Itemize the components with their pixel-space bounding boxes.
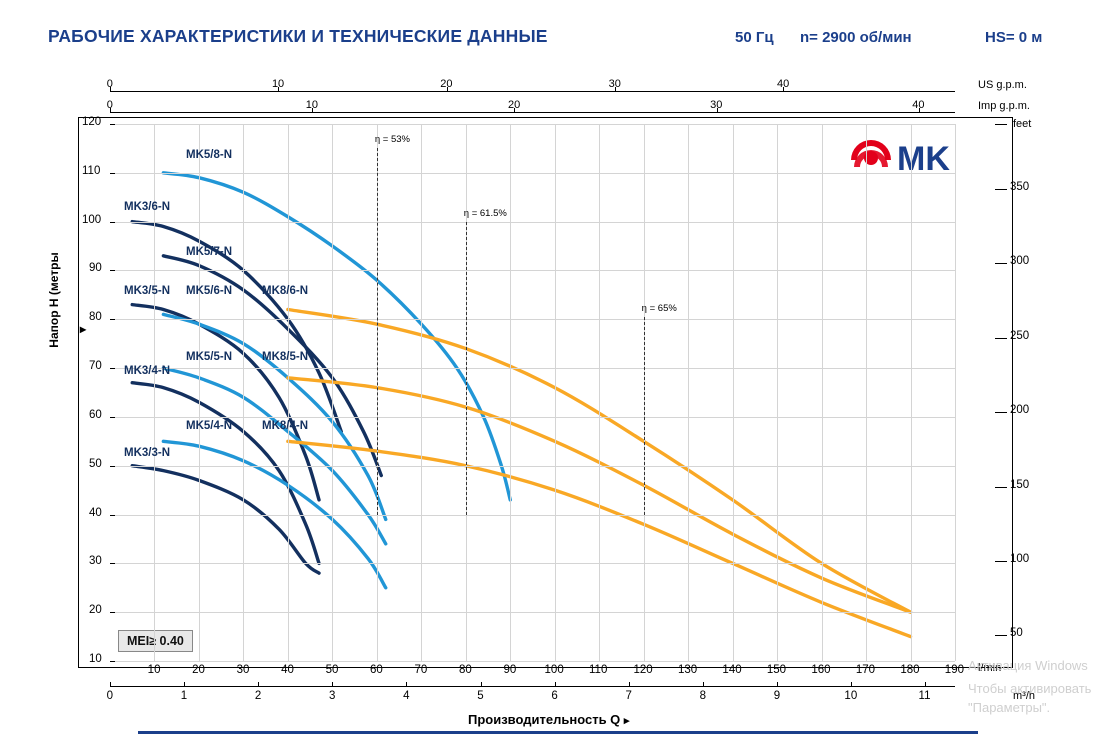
frequency-label: 50 Гц <box>735 29 774 46</box>
gridline-h <box>110 124 955 125</box>
x-tick-label-lmin: 10 <box>148 664 161 676</box>
y-right-tick-label: 50 <box>1010 627 1023 639</box>
x-tick-label-lmin: 120 <box>633 664 652 676</box>
y-tick <box>110 515 115 516</box>
gridline-h <box>110 515 955 516</box>
y-tick-label: 70 <box>89 360 102 372</box>
efficiency-marker-label: η = 65% <box>642 303 677 314</box>
axis-unit-imp-gpm: Imp g.p.m. <box>978 100 1030 112</box>
y-right-tick-label: 150 <box>1010 479 1029 491</box>
y-tick <box>110 612 115 613</box>
curve-label-mk5-6-n: MK5/6-N <box>186 285 232 297</box>
y-right-tick <box>995 338 1007 339</box>
x-tick-label-lmin: 170 <box>856 664 875 676</box>
curve-label-mk3-6-n: MK3/6-N <box>124 201 170 213</box>
efficiency-marker-line <box>644 317 645 515</box>
y-tick-label: 110 <box>82 165 100 177</box>
x-tick-label-m3h: 3 <box>329 690 335 702</box>
y-right-tick-label: 250 <box>1010 330 1029 342</box>
x-tick-m3h <box>629 682 630 686</box>
y-right-tick-label: 200 <box>1010 404 1029 416</box>
x-tick-label-m3h: 7 <box>625 690 631 702</box>
gridline-h <box>110 612 955 613</box>
page-title: РАБОЧИЕ ХАРАКТЕРИСТИКИ И ТЕХНИЧЕСКИЕ ДАН… <box>48 26 548 47</box>
y-right-tick <box>995 189 1007 190</box>
x-tick-label-m3h: 5 <box>477 690 483 702</box>
x-tick-m3h <box>703 682 704 686</box>
y-right-tick <box>995 635 1007 636</box>
y-tick <box>110 368 115 369</box>
gridline-h <box>110 368 955 369</box>
y-right-tick <box>995 487 1007 488</box>
bottom-axis-m3h <box>110 686 955 687</box>
y-tick <box>110 563 115 564</box>
y-tick <box>110 466 115 467</box>
y-tick <box>110 417 115 418</box>
rpm-label: n= 2900 об/мин <box>800 29 912 46</box>
x-tick-m3h <box>406 682 407 686</box>
y-tick-label: 20 <box>89 604 102 616</box>
watermark-line-1: Активация Windows <box>968 658 1088 673</box>
x-tick-impgpm <box>110 108 111 112</box>
gridline-h <box>110 466 955 467</box>
y-tick <box>110 124 115 125</box>
footer-rule <box>138 731 978 734</box>
efficiency-marker-label: η = 61.5% <box>464 208 507 219</box>
y-tick-label: 50 <box>89 458 102 470</box>
x-tick-m3h <box>555 682 556 686</box>
gridline-v <box>199 124 200 661</box>
watermark-line-2: Чтобы активировать <box>968 681 1091 696</box>
hs-label: HS= 0 м <box>985 29 1042 46</box>
x-tick-impgpm <box>717 108 718 112</box>
y-tick <box>110 270 115 271</box>
x-axis-label: Производительность Q ▸ <box>468 712 629 727</box>
gridline-v <box>733 124 734 661</box>
y-tick-label: 10 <box>89 653 102 665</box>
gridline-v <box>866 124 867 661</box>
gridline-v <box>911 124 912 661</box>
gridline-h <box>110 270 955 271</box>
gridline-h <box>110 417 955 418</box>
x-tick-label-m3h: 10 <box>844 690 857 702</box>
x-tick-m3h <box>258 682 259 686</box>
gridline-v <box>955 124 956 661</box>
curve-label-mk3-5-n: MK3/5-N <box>124 285 170 297</box>
gridline-h <box>110 319 955 320</box>
x-tick-label-lmin: 110 <box>589 664 607 676</box>
gridline-v <box>777 124 778 661</box>
x-tick-label-m3h: 1 <box>181 690 187 702</box>
x-tick-label-lmin: 40 <box>281 664 294 676</box>
curve-label-mk5-8-n: MK5/8-N <box>186 149 232 161</box>
y-tick-label: 80 <box>89 311 102 323</box>
x-tick-usgpm <box>447 87 448 91</box>
top-axis-us-gpm <box>110 91 955 92</box>
x-axis-label-text: Производительность Q <box>468 712 620 727</box>
y-right-tick <box>995 412 1007 413</box>
curve-label-mk3-3-n: MK3/3-N <box>124 447 170 459</box>
gridline-v <box>510 124 511 661</box>
y-right-tick-top <box>995 124 1007 125</box>
x-tick-label-lmin: 60 <box>370 664 383 676</box>
curve-label-mk5-7-n: MK5/7-N <box>186 246 232 258</box>
x-tick-m3h <box>332 682 333 686</box>
y-tick-label: 120 <box>82 116 101 128</box>
x-tick-label-lmin: 100 <box>545 664 564 676</box>
y-right-tick <box>995 561 1007 562</box>
curve-label-mk8-6-n: MK8/6-N <box>262 285 308 297</box>
plot-area <box>110 124 955 661</box>
gridline-h <box>110 222 955 223</box>
y-tick <box>110 222 115 223</box>
curves-layer <box>110 124 955 661</box>
gridline-h <box>110 173 955 174</box>
gridline-v <box>555 124 556 661</box>
x-tick-label-lmin: 150 <box>767 664 786 676</box>
top-axis-imp-gpm <box>110 112 955 113</box>
x-tick-label-lmin: 130 <box>678 664 697 676</box>
y-tick <box>110 173 115 174</box>
curve-mk5-5-n <box>163 368 385 544</box>
x-tick-usgpm <box>278 87 279 91</box>
x-tick-m3h <box>925 682 926 686</box>
curve-label-mk8-5-n: MK8/5-N <box>262 351 308 363</box>
x-tick-impgpm <box>312 108 313 112</box>
watermark-line-3: "Параметры". <box>968 700 1050 715</box>
x-tick-impgpm <box>919 108 920 112</box>
efficiency-marker-line <box>466 222 467 515</box>
curve-label-mk5-4-n: MK5/4-N <box>186 420 232 432</box>
y-tick <box>110 661 115 662</box>
y-right-tick-label: 300 <box>1010 255 1029 267</box>
x-tick-label-lmin: 50 <box>326 664 339 676</box>
x-tick-usgpm <box>783 87 784 91</box>
gridline-v <box>688 124 689 661</box>
x-tick-m3h <box>110 682 111 686</box>
gridline-v <box>243 124 244 661</box>
x-tick-label-m3h: 9 <box>774 690 780 702</box>
gridline-h <box>110 563 955 564</box>
x-tick-m3h <box>481 682 482 686</box>
x-tick-label-lmin: 80 <box>459 664 472 676</box>
axis-unit-feet: feet <box>1013 118 1031 130</box>
x-tick-m3h <box>184 682 185 686</box>
x-tick-label-lmin: 20 <box>192 664 205 676</box>
x-tick-usgpm <box>110 87 111 91</box>
gridline-v <box>599 124 600 661</box>
x-tick-label-lmin: 90 <box>503 664 516 676</box>
y-tick <box>110 319 115 320</box>
y-right-tick-label: 350 <box>1010 181 1029 193</box>
x-tick-label-m3h: 0 <box>107 690 113 702</box>
y-tick-label: 30 <box>89 555 102 567</box>
y-right-tick-label: 100 <box>1010 553 1029 565</box>
axis-unit-us-gpm: US g.p.m. <box>978 79 1027 91</box>
x-tick-m3h <box>777 682 778 686</box>
x-tick-label-lmin: 190 <box>945 664 964 676</box>
x-tick-label-m3h: 11 <box>919 690 931 702</box>
x-tick-label-lmin: 140 <box>722 664 741 676</box>
x-tick-label-m3h: 2 <box>255 690 261 702</box>
x-tick-label-m3h: 4 <box>403 690 409 702</box>
y-right-tick <box>995 263 1007 264</box>
x-tick-impgpm <box>514 108 515 112</box>
gridline-h <box>110 661 955 662</box>
curve-mk3-3-n <box>132 466 319 573</box>
y-tick-label: 100 <box>82 214 101 226</box>
efficiency-marker-line <box>377 148 378 515</box>
curve-label-mk5-5-n: MK5/5-N <box>186 351 232 363</box>
y-axis-arrow: ▸ <box>80 322 86 336</box>
x-tick-label-m3h: 6 <box>551 690 557 702</box>
gridline-v <box>421 124 422 661</box>
curve-mk3-4-n <box>132 383 319 564</box>
x-tick-label-lmin: 30 <box>237 664 250 676</box>
x-tick-label-lmin: 180 <box>900 664 919 676</box>
y-tick-label: 40 <box>89 507 102 519</box>
x-tick-label-lmin: 160 <box>811 664 830 676</box>
x-tick-m3h <box>851 682 852 686</box>
gridline-v <box>822 124 823 661</box>
curve-label-mk3-4-n: MK3/4-N <box>124 365 170 377</box>
efficiency-marker-label: η = 53% <box>375 134 410 145</box>
y-tick-label: 90 <box>89 262 102 274</box>
gridline-v <box>332 124 333 661</box>
x-tick-usgpm <box>615 87 616 91</box>
y-axis-label: Напор H (метры <box>47 252 61 347</box>
curve-label-mk8-4-n: MK8/4-N <box>262 420 308 432</box>
x-tick-label-lmin: 70 <box>415 664 428 676</box>
gridline-v <box>288 124 289 661</box>
y-tick-label: 60 <box>89 409 102 421</box>
x-tick-label-m3h: 8 <box>700 690 706 702</box>
